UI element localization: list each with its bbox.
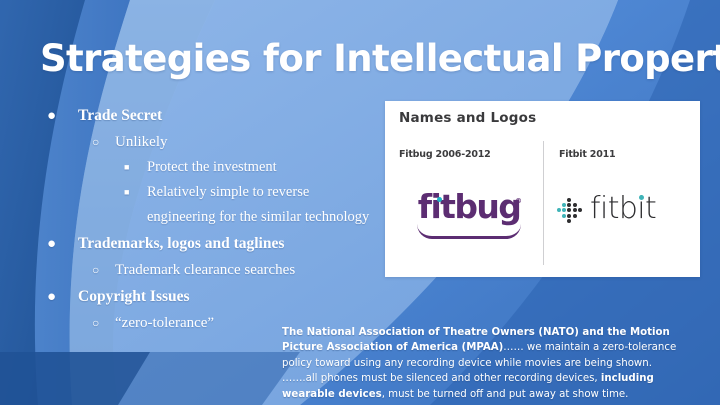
fitbug-underline-icon (417, 224, 521, 239)
list-item: ● Copyright Issues (40, 284, 380, 310)
fitbit-wordmark: fitbit (590, 187, 656, 231)
fitbug-wordmark: fitbug (395, 185, 543, 229)
column-divider (543, 141, 544, 265)
list-item-label: Copyright Issues (78, 284, 380, 310)
fitbit-i-dot-icon (639, 195, 644, 200)
bullet-circle-icon: ○ (92, 257, 99, 283)
list-item: ● Trade Secret (40, 103, 380, 129)
panel-title: Names and Logos (399, 110, 536, 126)
list-item: ■ Relatively simple to reverse engineeri… (40, 180, 380, 230)
list-item-label: Trade Secret (78, 103, 380, 129)
fitbug-i-dot-icon (437, 197, 442, 202)
mpaa-quote-text: The National Association of Theatre Owne… (282, 325, 686, 402)
registered-trademark-icon: ® (515, 197, 522, 205)
list-item-label: Relatively simple to reverse engineering… (147, 180, 380, 230)
list-item: ○ Trademark clearance searches (40, 257, 380, 283)
fitbit-logo: fitbit (557, 185, 689, 239)
bullet-circle-icon: ○ (92, 129, 99, 155)
names-and-logos-panel: Names and Logos Fitbug 2006-2012 Fitbit … (385, 101, 700, 277)
list-item-label: Unlikely (115, 129, 380, 155)
bullet-square-icon: ■ (124, 180, 129, 205)
fitbit-dot-grid-icon (557, 198, 583, 224)
list-item: ■ Protect the investment (40, 155, 380, 180)
list-item: ○ Unlikely (40, 129, 380, 155)
fitbug-column-label: Fitbug 2006-2012 (399, 149, 491, 160)
fitbit-column-label: Fitbit 2011 (559, 149, 615, 160)
list-item-label: Protect the investment (147, 155, 380, 180)
bullet-disc-icon: ● (47, 231, 56, 257)
list-item: ● Trademarks, logos and taglines (40, 231, 380, 257)
list-item-label: Trademark clearance searches (115, 257, 380, 283)
fitbug-logo: fitbug ® (395, 185, 543, 245)
bullet-disc-icon: ● (47, 103, 56, 129)
quote-part4: , must be turned off and put away at sho… (382, 389, 629, 400)
slide-canvas: Strategies for Intellectual Property ● T… (0, 0, 720, 405)
bullet-disc-icon: ● (47, 284, 56, 310)
bullet-circle-icon: ○ (92, 310, 99, 336)
bullet-list: ● Trade Secret ○ Unlikely ■ Protect the … (40, 102, 380, 336)
page-title: Strategies for Intellectual Property (40, 40, 700, 79)
bullet-square-icon: ■ (124, 155, 129, 180)
list-item-label: Trademarks, logos and taglines (78, 231, 380, 257)
